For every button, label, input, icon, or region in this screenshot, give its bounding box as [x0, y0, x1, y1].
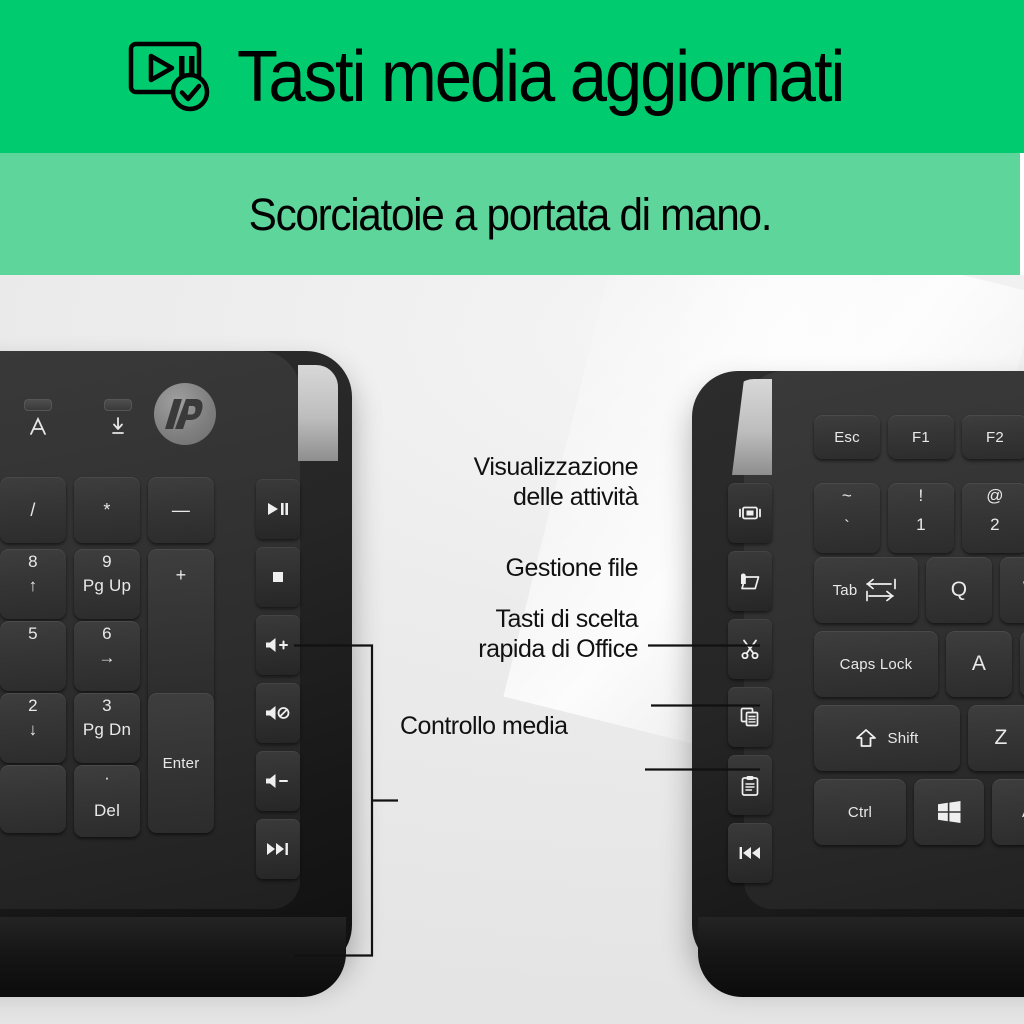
numpad-8-bottom: ↑ [29, 577, 38, 594]
mute-icon [265, 705, 291, 721]
a-key[interactable]: A [946, 631, 1012, 697]
callout-label-file-manager: Gestione file [338, 554, 638, 584]
file-manager-key[interactable] [728, 551, 772, 611]
f2-key[interactable]: F2 [962, 415, 1024, 459]
numpad-5-key[interactable]: 5 [0, 621, 66, 691]
callout-label-task-view: Visualizzazione delle attività [338, 453, 638, 512]
numpad-2-key[interactable]: 2 ↓ [0, 693, 66, 763]
caps-lock-indicator [24, 399, 52, 436]
decimal-key-top: · [104, 769, 110, 786]
numpad-9-key[interactable]: 9 Pg Up [74, 549, 140, 619]
num-lock-indicator [104, 399, 132, 436]
next-track-icon [266, 842, 290, 856]
q-key-label: Q [951, 578, 968, 602]
volume-up-icon [265, 637, 291, 653]
enter-key-label: Enter [163, 755, 200, 772]
paste-icon [741, 775, 759, 796]
two-key[interactable]: @ 2 [962, 483, 1024, 553]
enter-key[interactable]: Enter [148, 693, 214, 833]
del-key-bottom: Del [94, 802, 120, 819]
f1-key-label: F1 [912, 429, 930, 446]
numpad-6-bottom: → [98, 649, 115, 666]
shift-arrow-icon [855, 728, 877, 748]
numpad-6-top: 6 [102, 625, 112, 642]
ctrl-key[interactable]: Ctrl [814, 779, 906, 845]
prev-track-icon [738, 846, 762, 860]
minus-key-label: — [172, 500, 190, 521]
bezel-accent-left [298, 365, 338, 461]
two-key-bottom: 2 [990, 516, 1000, 533]
copy-key[interactable] [728, 687, 772, 747]
asterisk-key-label: * [103, 500, 110, 521]
copy-icon [740, 707, 760, 727]
media-check-icon [127, 40, 215, 114]
a-key-label: A [972, 652, 986, 676]
caps-lock-lamp [24, 399, 52, 411]
f1-key[interactable]: F1 [888, 415, 954, 459]
numpad-2-top: 2 [28, 697, 38, 714]
volume-down-key[interactable] [256, 751, 300, 811]
numpad-8-key[interactable]: 8 ↑ [0, 549, 66, 619]
tab-key[interactable]: Tab [814, 557, 918, 623]
prev-track-key[interactable] [728, 823, 772, 883]
grave-key-bottom: ` [844, 518, 850, 535]
windows-icon [936, 799, 962, 825]
stop-key[interactable] [256, 547, 300, 607]
keyboard-skirt-left [0, 917, 346, 997]
task-view-icon [738, 505, 762, 521]
tilde-grave-key[interactable]: ~ ` [814, 483, 880, 553]
at-key-top: @ [986, 487, 1003, 504]
ctrl-key-label: Ctrl [848, 804, 872, 821]
f2-key-label: F2 [986, 429, 1004, 446]
subheadline-text: Scorciatoie a portata di mano. [249, 192, 771, 237]
left-keyboard: / * — 8 ↑ 9 Pg Up + 5 [0, 351, 352, 971]
s-key[interactable]: S [1020, 631, 1024, 697]
plus-key[interactable]: + [148, 549, 214, 705]
alt-key[interactable]: Alt [992, 779, 1024, 845]
numpad-3-bottom: Pg Dn [83, 721, 131, 738]
task-view-key[interactable] [728, 483, 772, 543]
asterisk-key[interactable]: * [74, 477, 140, 543]
cut-key[interactable] [728, 619, 772, 679]
hp-logo [154, 383, 216, 445]
numpad-0-key[interactable] [0, 765, 66, 833]
minus-key[interactable]: — [148, 477, 214, 543]
callout-label-media-control: Controllo media [400, 712, 700, 742]
numpad-2-bottom: ↓ [29, 721, 38, 738]
keyboard-skirt-right [698, 917, 1024, 997]
decimal-del-key[interactable]: · Del [74, 765, 140, 837]
promo-banner-image: Tasti media aggiornati Scorciatoie a por… [0, 0, 1024, 1024]
esc-key[interactable]: Esc [814, 415, 880, 459]
numpad-8-top: 8 [28, 553, 38, 570]
numpad-6-key[interactable]: 6 → [74, 621, 140, 691]
plus-key-label: + [176, 565, 187, 586]
numpad-3-top: 3 [102, 697, 112, 714]
exclaim-key-top: ! [919, 487, 924, 504]
tilde-key-top: ~ [842, 487, 852, 504]
right-keyboard: Esc F1 F2 ~ ` ! 1 @ 2 [692, 371, 1024, 971]
num-lock-lamp [104, 399, 132, 411]
numpad-5-top: 5 [28, 625, 38, 642]
file-manager-icon [739, 572, 761, 590]
slash-key[interactable]: / [0, 477, 66, 543]
download-arrow-icon [109, 416, 127, 436]
hp-wordmark-icon [162, 397, 208, 431]
play-pause-key[interactable] [256, 479, 300, 539]
scissors-icon [740, 639, 760, 659]
subheadline-band: Scorciatoie a portata di mano. [0, 153, 1020, 275]
volume-down-icon [265, 773, 291, 789]
z-key[interactable]: Z [968, 705, 1024, 771]
one-key[interactable]: ! 1 [888, 483, 954, 553]
esc-key-label: Esc [834, 429, 860, 446]
stop-icon [271, 570, 285, 584]
z-key-label: Z [994, 726, 1007, 750]
windows-key[interactable] [914, 779, 984, 845]
indicator-led-group [24, 399, 132, 436]
caps-lock-a-icon [29, 416, 47, 436]
mute-key[interactable] [256, 683, 300, 743]
shift-key[interactable]: Shift [814, 705, 960, 771]
volume-up-key[interactable] [256, 615, 300, 675]
shift-key-label: Shift [887, 730, 918, 747]
tab-key-label: Tab [833, 582, 858, 599]
tab-arrows-icon [865, 577, 899, 603]
callout-label-office-hotkeys: Tasti di scelta rapida di Office [338, 605, 638, 664]
q-key[interactable]: Q [926, 557, 992, 623]
caps-lock-key-label: Caps Lock [840, 656, 913, 673]
headline-text: Tasti media aggiornati [237, 41, 843, 113]
one-key-bottom: 1 [916, 516, 926, 533]
next-track-key[interactable] [256, 819, 300, 879]
slash-key-label: / [30, 500, 35, 521]
w-key[interactable]: W [1000, 557, 1024, 623]
numpad-9-bottom: Pg Up [83, 577, 131, 594]
play-pause-icon [267, 502, 289, 516]
numpad-3-key[interactable]: 3 Pg Dn [74, 693, 140, 763]
paste-key[interactable] [728, 755, 772, 815]
headline-band: Tasti media aggiornati [0, 0, 1024, 153]
numpad-9-top: 9 [102, 553, 112, 570]
product-photo: / * — 8 ↑ 9 Pg Up + 5 [0, 275, 1024, 1024]
caps-lock-key[interactable]: Caps Lock [814, 631, 938, 697]
